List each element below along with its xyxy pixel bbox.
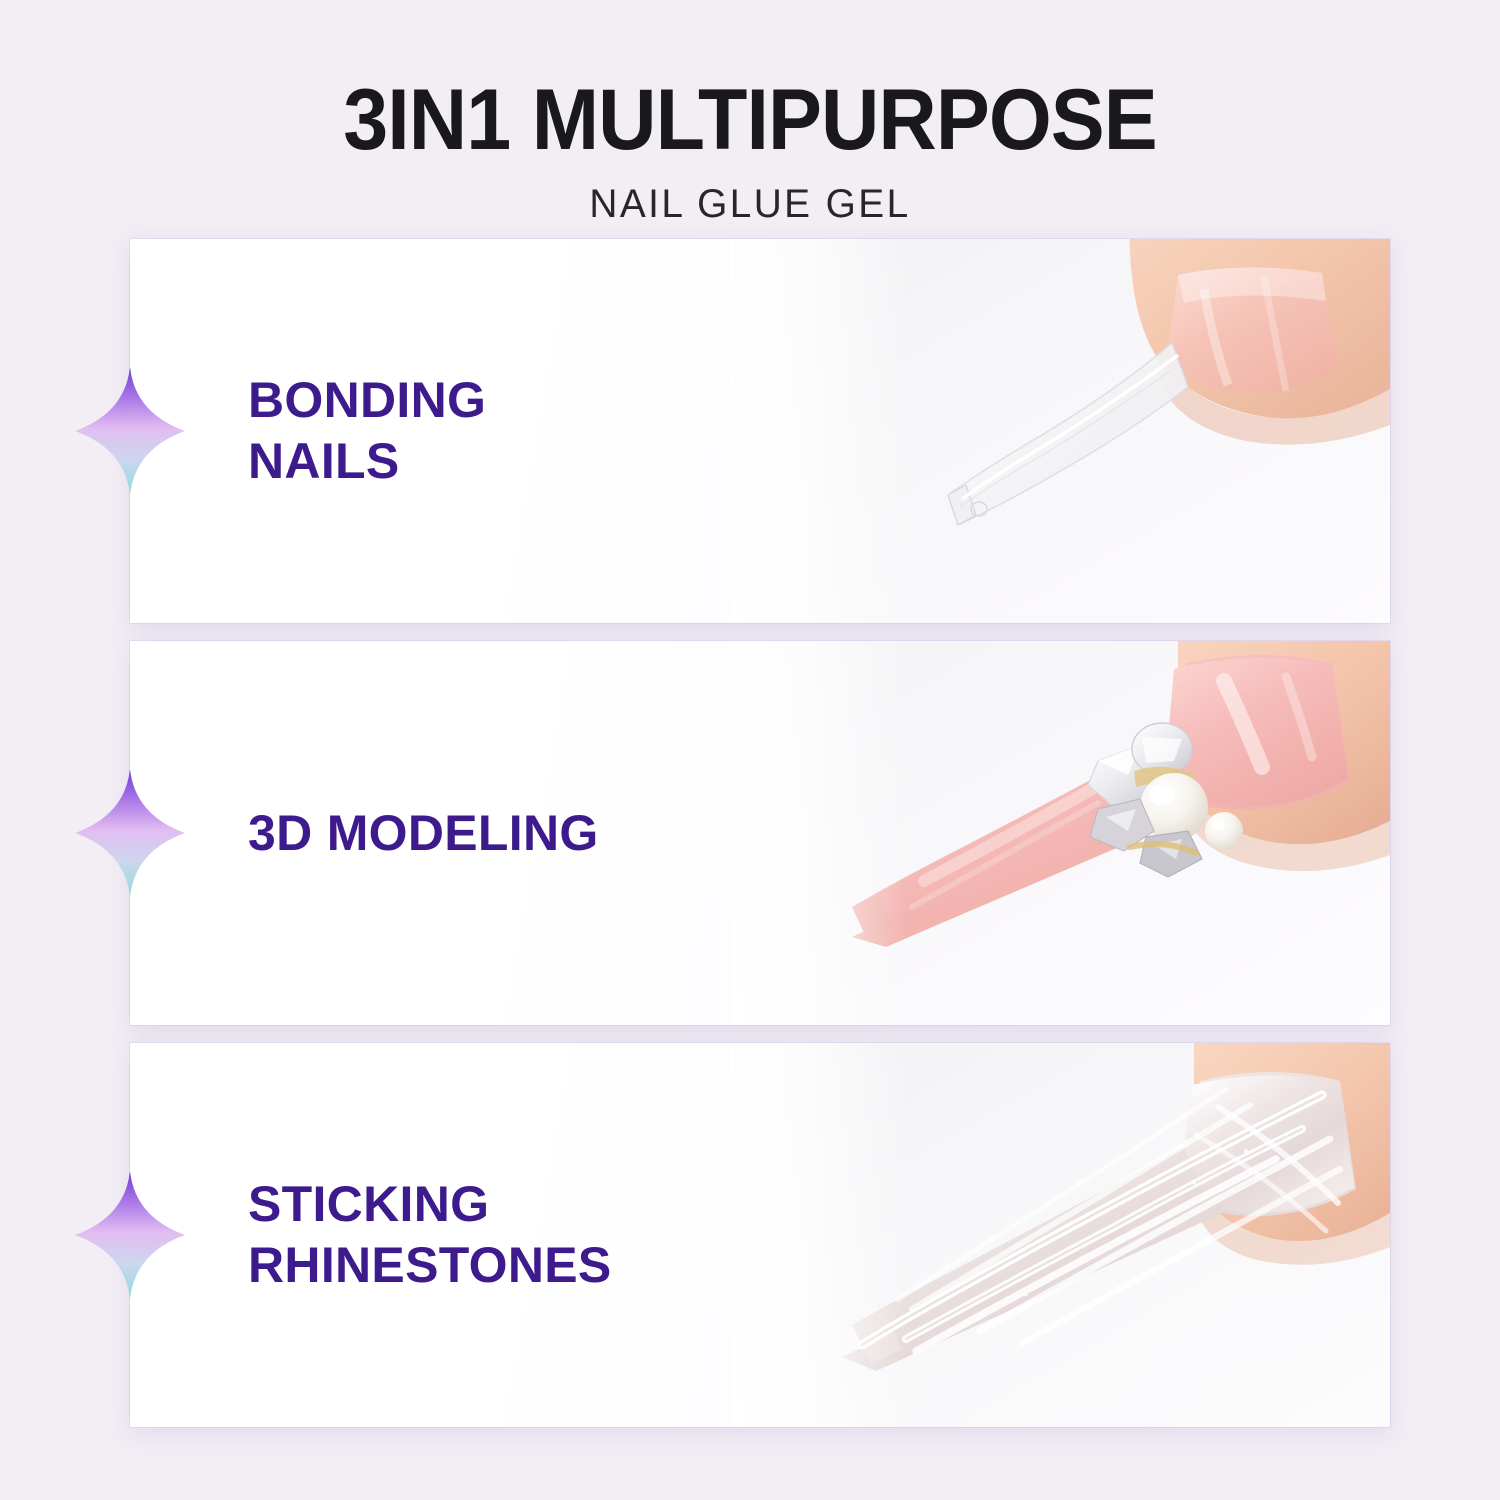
sticking-rhinestones-photo: [726, 1043, 1390, 1427]
feature-label-sticking-rhinestones: STICKING RHINESTONES: [130, 1174, 612, 1296]
feature-card-list: BONDING NAILS: [130, 239, 1390, 1427]
bonding-nails-photo: [726, 239, 1390, 623]
photo-left-fade: [726, 641, 906, 1025]
feature-card-bonding-nails[interactable]: BONDING NAILS: [130, 239, 1390, 623]
feature-card-3d-modeling[interactable]: 3D MODELING: [130, 641, 1390, 1025]
feature-label-bonding-nails: BONDING NAILS: [130, 370, 486, 492]
header: 3IN1 MULTIPURPOSE NAIL GLUE GEL: [0, 0, 1500, 227]
photo-left-fade: [726, 1043, 906, 1427]
card-text-panel: 3D MODELING: [130, 641, 730, 1025]
feature-card-sticking-rhinestones[interactable]: STICKING RHINESTONES: [130, 1043, 1390, 1427]
3d-modeling-photo: [726, 641, 1390, 1025]
photo-left-fade: [726, 239, 906, 623]
page-subtitle: NAIL GLUE GEL: [23, 162, 1478, 227]
page-title: 3IN1 MULTIPURPOSE: [45, 0, 1455, 162]
card-text-panel: STICKING RHINESTONES: [130, 1043, 730, 1427]
feature-label-3d-modeling: 3D MODELING: [130, 803, 599, 864]
card-text-panel: BONDING NAILS: [130, 239, 730, 623]
